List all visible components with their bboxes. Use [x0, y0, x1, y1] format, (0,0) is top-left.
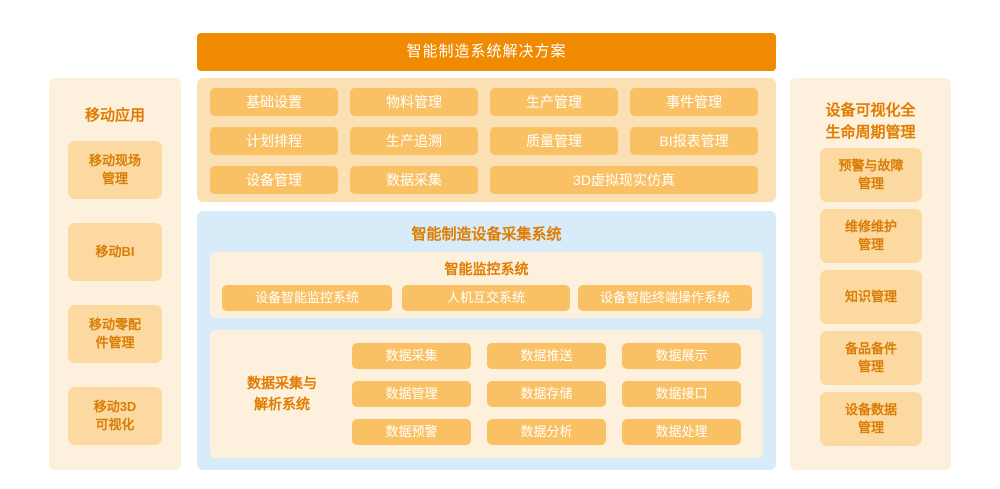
data-item-data-storage[interactable]: 数据存储 — [487, 381, 606, 407]
intelligent-monitoring-title: 智能监控系统 — [210, 258, 763, 280]
mobile-app-panel-title: 移动应用 — [49, 105, 181, 127]
data-item-data-analysis[interactable]: 数据分析 — [487, 419, 606, 445]
module-3d-vr-simulation[interactable]: 3D虚拟现实仿真 — [490, 166, 758, 194]
module-basic-settings[interactable]: 基础设置 — [210, 88, 338, 116]
module-production-management[interactable]: 生产管理 — [490, 88, 618, 116]
left-item-mobile-site-management[interactable]: 移动现场 管理 — [68, 141, 162, 199]
left-item-mobile-3d-visualization[interactable]: 移动3D 可视化 — [68, 387, 162, 445]
module-event-management[interactable]: 事件管理 — [630, 88, 758, 116]
data-item-data-display[interactable]: 数据展示 — [622, 343, 741, 369]
monitor-item-human-machine-interaction-system[interactable]: 人机互交系统 — [402, 285, 570, 311]
right-item-equipment-data-management[interactable]: 设备数据 管理 — [820, 392, 922, 446]
right-item-alarm-fault-management[interactable]: 预警与故障 管理 — [820, 148, 922, 202]
data-item-data-interface[interactable]: 数据接口 — [622, 381, 741, 407]
monitor-item-smart-terminal-operating-system[interactable]: 设备智能终端操作系统 — [578, 285, 752, 311]
equipment-collection-system-title: 智能制造设备采集系统 — [197, 220, 776, 246]
module-material-management[interactable]: 物料管理 — [350, 88, 478, 116]
module-equipment-management[interactable]: 设备管理 — [210, 166, 338, 194]
left-item-mobile-bi[interactable]: 移动BI — [68, 223, 162, 281]
solution-banner: 智能制造系统解决方案 — [197, 33, 776, 71]
right-item-knowledge-management[interactable]: 知识管理 — [820, 270, 922, 324]
data-item-data-collection[interactable]: 数据采集 — [352, 343, 471, 369]
module-planning-scheduling[interactable]: 计划排程 — [210, 127, 338, 155]
data-item-data-processing[interactable]: 数据处理 — [622, 419, 741, 445]
data-item-data-management[interactable]: 数据管理 — [352, 381, 471, 407]
module-quality-management[interactable]: 质量管理 — [490, 127, 618, 155]
diagram-canvas: 智能制造系统解决方案 移动应用 移动现场 管理 移动BI 移动零配 件管理 移动… — [0, 0, 1000, 489]
right-item-maintenance-management[interactable]: 维修维护 管理 — [820, 209, 922, 263]
data-collection-parsing-title: 数据采集与 解析系统 — [222, 370, 342, 418]
left-item-mobile-spare-parts-management[interactable]: 移动零配 件管理 — [68, 305, 162, 363]
module-data-collection[interactable]: 数据采集 — [350, 166, 478, 194]
module-production-traceability[interactable]: 生产追溯 — [350, 127, 478, 155]
data-item-data-alarm[interactable]: 数据预警 — [352, 419, 471, 445]
equipment-lifecycle-panel-title: 设备可视化全 生命周期管理 — [800, 98, 941, 146]
data-item-data-push[interactable]: 数据推送 — [487, 343, 606, 369]
module-bi-report-management[interactable]: BI报表管理 — [630, 127, 758, 155]
monitor-item-equipment-monitoring-system[interactable]: 设备智能监控系统 — [222, 285, 392, 311]
right-item-spare-parts-management[interactable]: 备品备件 管理 — [820, 331, 922, 385]
